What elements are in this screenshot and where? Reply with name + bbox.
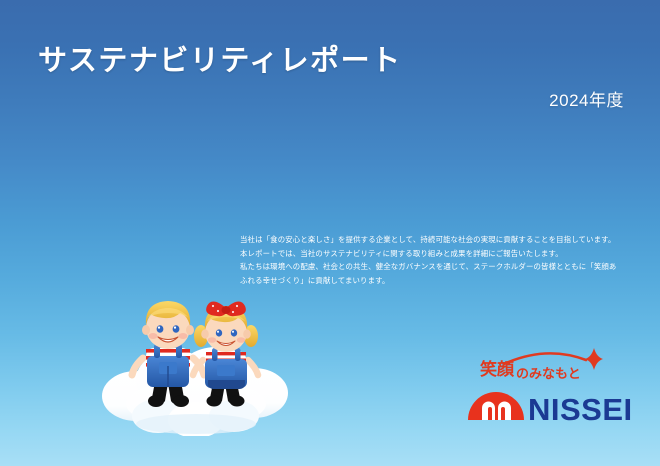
page-title: サステナビリティレポート <box>38 44 402 79</box>
brand-text: NISSEI <box>528 392 633 427</box>
two-children-on-cloud-illustration <box>96 296 306 436</box>
nissei-dome-mark <box>468 392 524 420</box>
sustainability-report-cover: サステナビリティレポート 2024年度 当社は「食の安心と楽しさ」を提供する企業… <box>0 0 660 466</box>
intro-line-3: 私たちは環境への配慮、社会との共生、健全なガバナンスを通じて、ステークホルダーの… <box>240 260 620 287</box>
nissei-logo-block: 笑顔 のみなもと NISSEI <box>466 342 636 430</box>
fiscal-year-label: 2024年度 <box>549 86 624 111</box>
girl-head <box>194 301 258 352</box>
tagline-text: 笑顔 <box>480 359 515 379</box>
tagline-swoosh-arc <box>504 353 586 364</box>
boy-head <box>142 301 194 349</box>
intro-line-1: 当社は「食の安心と楽しさ」を提供する企業として、持続可能な社会の実現に貢献するこ… <box>240 233 620 247</box>
red-hair-bow <box>206 301 246 316</box>
intro-paragraph-block: 当社は「食の安心と楽しさ」を提供する企業として、持続可能な社会の実現に貢献するこ… <box>240 233 620 288</box>
sparkle-icon <box>585 348 603 370</box>
intro-line-2: 本レポートでは、当社のサステナビリティに関する取り組みと成果を詳細にご報告いたし… <box>240 247 620 261</box>
tagline-text-2: のみなもと <box>516 366 581 381</box>
